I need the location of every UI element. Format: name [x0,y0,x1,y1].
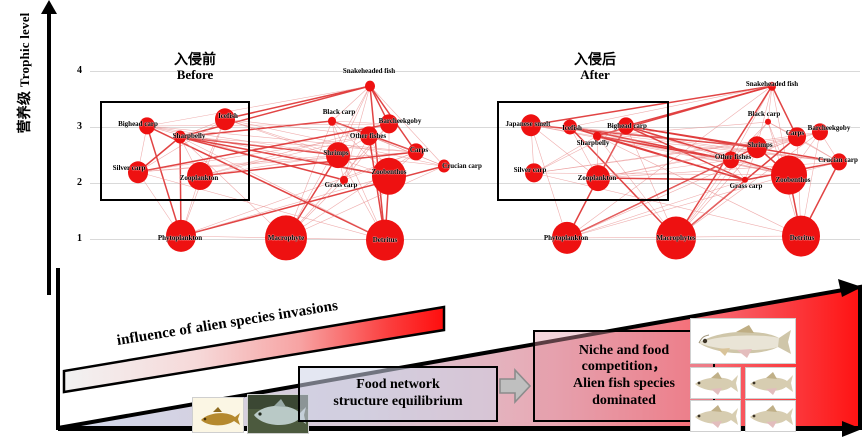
food-network-equilibrium-box[interactable]: Food network structure equilibrium [298,366,498,422]
fish-photo-smelt-3 [690,400,741,432]
niche-line-1: Niche and food [573,343,675,360]
fish-photo-catfish [192,397,244,433]
fish-photo-smelt-1 [690,367,741,399]
transition-arrow-icon [498,366,532,406]
fish-photo-smelt-large [690,318,796,364]
figure-canvas: 营养级 Trophic level 4 3 2 1 入侵前 Before 入侵后… [0,0,866,437]
food-equilibrium-line-2: structure equilibrium [333,394,462,411]
fish-photo-smelt-4 [745,400,796,432]
food-equilibrium-line-1: Food network [333,377,462,394]
alien-fish-photo-panel [690,318,794,430]
niche-line-3: Alien fish species [573,376,675,393]
niche-competition-box[interactable]: Niche and food competition， Alien fish s… [533,330,715,422]
niche-line-2: competition， [573,359,675,376]
fish-photo-smelt-2 [745,367,796,399]
niche-line-4: dominated [573,393,675,410]
